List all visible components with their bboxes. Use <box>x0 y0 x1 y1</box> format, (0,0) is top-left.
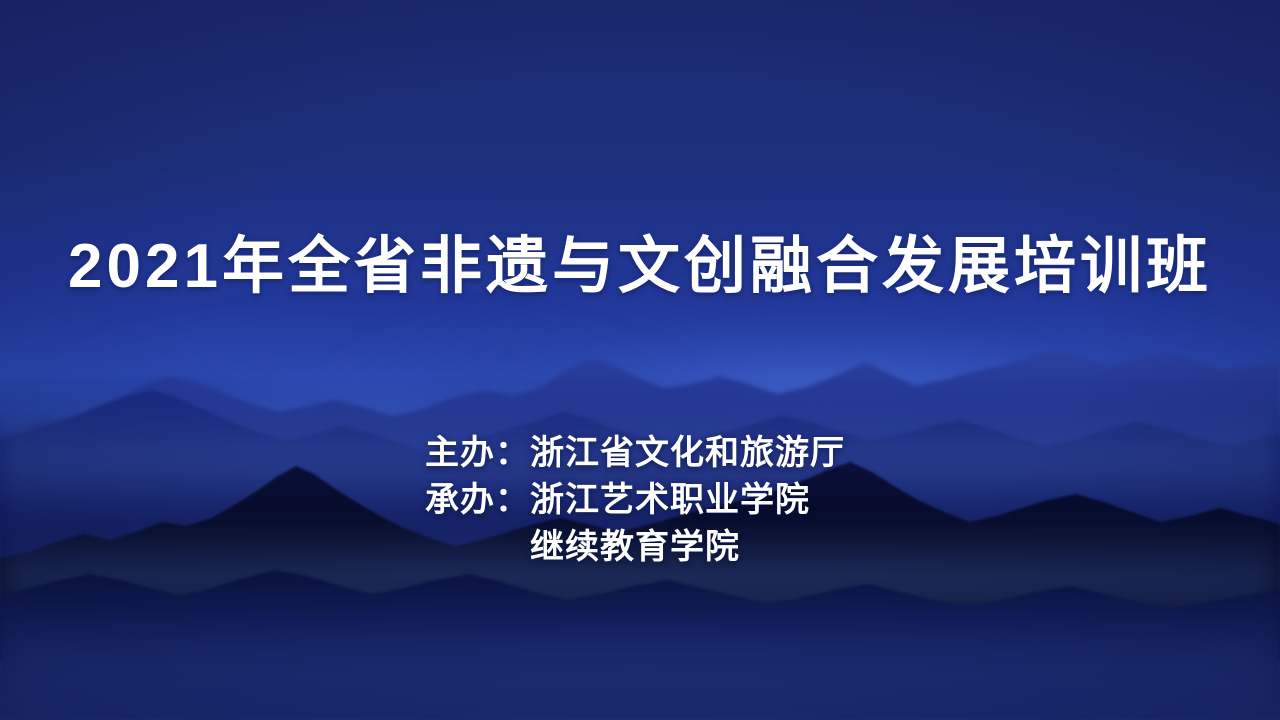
title-slide: 2021年全省非遗与文创融合发展培训班 主办：浙江省文化和旅游厅 承办：浙江艺术… <box>0 0 1280 720</box>
slide-title: 2021年全省非遗与文创融合发展培训班 <box>0 228 1280 306</box>
organizer-block: 主办：浙江省文化和旅游厅 承办：浙江艺术职业学院 继续教育学院 <box>425 430 985 571</box>
vignette-overlay <box>0 0 1280 720</box>
organizer-line-department: 继续教育学院 <box>425 524 985 571</box>
organizer-line-host: 主办：浙江省文化和旅游厅 <box>425 430 985 477</box>
organizer-line-undertaker: 承办：浙江艺术职业学院 <box>425 477 985 524</box>
